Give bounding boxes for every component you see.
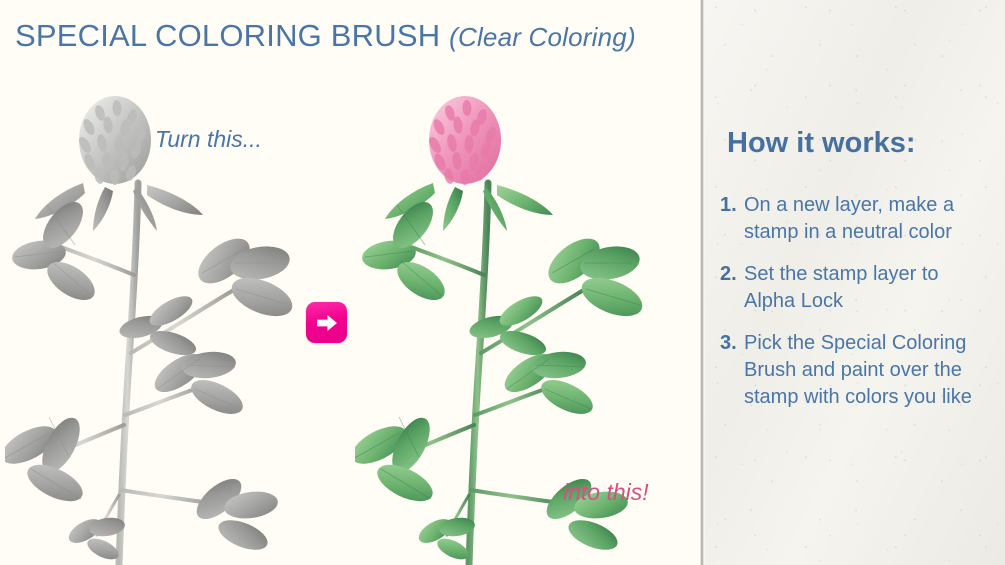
step-number: 1. bbox=[720, 192, 744, 219]
main-panel: SPECIAL COLORING BRUSH (Clear Coloring) bbox=[0, 0, 702, 565]
step-text: Pick the Special Coloring Brush and pain… bbox=[744, 330, 992, 411]
step-number: 3. bbox=[720, 330, 744, 357]
step-number: 2. bbox=[720, 261, 744, 288]
steps-list: 1. On a new layer, make a stamp in a neu… bbox=[720, 192, 992, 426]
instructions-sidebar: How it works: 1. On a new layer, make a … bbox=[705, 0, 1005, 565]
slide-canvas: SPECIAL COLORING BRUSH (Clear Coloring) bbox=[0, 0, 1005, 565]
list-item: 1. On a new layer, make a stamp in a neu… bbox=[720, 192, 992, 246]
annotation-into-this: into this! bbox=[563, 479, 649, 506]
list-item: 2. Set the stamp layer to Alpha Lock bbox=[720, 261, 992, 315]
red-clover-plant-grayscale bbox=[5, 95, 305, 565]
page-title-parenthetical: (Clear Coloring) bbox=[449, 22, 636, 52]
step-text: Set the stamp layer to Alpha Lock bbox=[744, 261, 992, 315]
arrow-right-icon bbox=[306, 302, 347, 343]
step-text: On a new layer, make a stamp in a neutra… bbox=[744, 192, 992, 246]
page-title-main: SPECIAL COLORING BRUSH bbox=[15, 18, 440, 53]
sidebar-heading: How it works: bbox=[727, 127, 916, 160]
list-item: 3. Pick the Special Coloring Brush and p… bbox=[720, 330, 992, 411]
annotation-turn-this: Turn this... bbox=[155, 126, 262, 153]
page-title: SPECIAL COLORING BRUSH (Clear Coloring) bbox=[15, 18, 636, 54]
